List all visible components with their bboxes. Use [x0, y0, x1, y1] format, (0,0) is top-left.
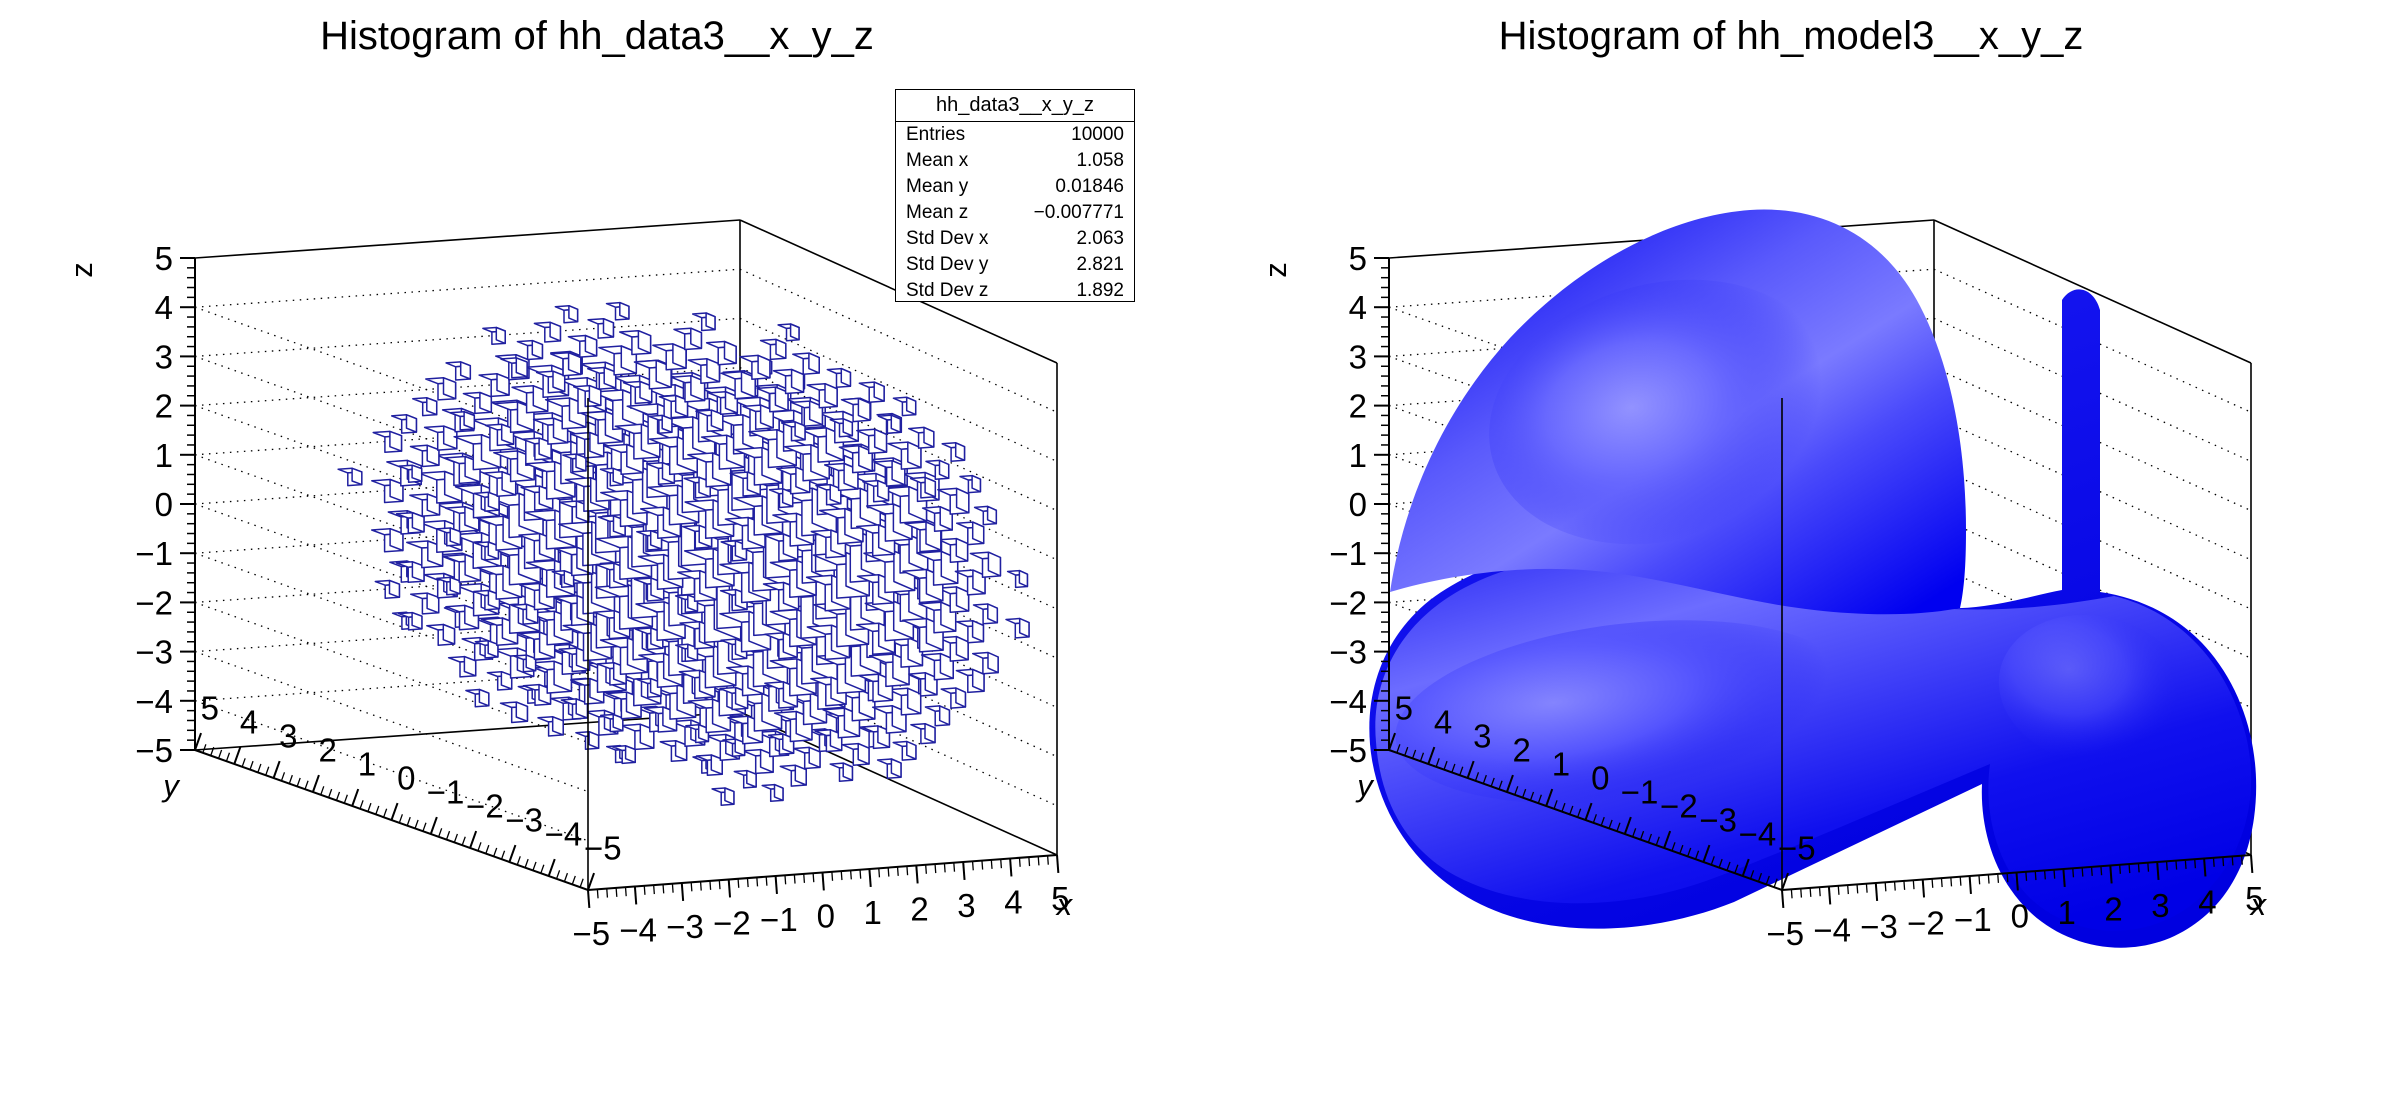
histogram-box	[479, 690, 488, 706]
axis-x-minor-tick	[701, 882, 702, 891]
histogram-box	[925, 477, 935, 496]
axis-x-tick-label: −3	[1860, 908, 1898, 945]
axis-y-minor-tick	[557, 870, 560, 878]
axis-y-minor-tick	[376, 806, 379, 814]
axis-z-tick-label: 4	[155, 289, 173, 326]
axis-y-minor-tick	[541, 865, 544, 873]
axis-x-minor-tick	[973, 861, 974, 870]
axis-x-label: x	[2249, 887, 2268, 922]
axis-x-minor-tick	[1979, 875, 1980, 884]
stats-box-data[interactable]: hh_data3__x_y_z Entries10000Mean x1.058M…	[895, 89, 1135, 302]
axis-x-minor-tick	[888, 868, 889, 877]
histogram-box	[874, 382, 884, 401]
axis-y-minor-tick	[399, 814, 402, 822]
axis-y-minor-tick	[368, 803, 371, 811]
histogram-box	[620, 303, 629, 319]
axis-z-tick-label: 5	[155, 240, 173, 277]
axis-x-tick-label: −4	[619, 911, 657, 948]
stats-row-value: −0.007771	[1034, 202, 1124, 224]
axis-y-minor-tick	[478, 842, 481, 850]
axis-x-minor-tick	[1838, 886, 1839, 895]
box-histogram	[338, 303, 1029, 806]
axis-x-minor-tick	[1810, 888, 1811, 897]
axis-x-tick-label: 1	[863, 894, 881, 931]
stats-row: Mean z−0.007771	[906, 200, 1124, 226]
axis-x-minor-tick	[1941, 878, 1942, 887]
axis-x-minor-tick	[2110, 866, 2111, 875]
axis-z-tick-label: 4	[1349, 289, 1367, 326]
axis-y-tick-label: 3	[279, 718, 297, 755]
axis-x-tick-label: 2	[2104, 890, 2122, 927]
axis-z-tick-label: 2	[1349, 388, 1367, 425]
axis-z-tick-label: 0	[1349, 486, 1367, 523]
axis-z-tick-label: −3	[135, 634, 173, 671]
histogram-box	[427, 398, 437, 415]
axis-x-minor-tick	[916, 866, 917, 875]
histogram-box	[1019, 571, 1027, 587]
axis-y-tick-label: −5	[1778, 830, 1816, 867]
axis-z-tick-label: 3	[155, 338, 173, 375]
axis-x-tick-label: −4	[1813, 911, 1851, 948]
axis-x-minor-tick	[2129, 864, 2130, 873]
axis-y-tick-label: −2	[466, 788, 504, 825]
axis-z-tick-label: −4	[1329, 683, 1367, 720]
axis-x-minor-tick	[813, 873, 814, 882]
grid-line	[195, 269, 740, 307]
histogram-box	[907, 397, 916, 414]
axis-x-minor-tick	[2204, 859, 2205, 868]
axis-y-minor-tick	[329, 789, 332, 797]
axis-x-minor-tick	[663, 884, 664, 893]
histogram-box	[924, 427, 934, 447]
axis-x-minor-tick	[597, 889, 598, 898]
axis-x-minor-tick	[1876, 883, 1877, 892]
histogram-box	[553, 717, 564, 735]
axis-x-minor-tick	[944, 863, 945, 872]
axis-x-tick-label: 1	[2057, 894, 2075, 931]
histogram-box	[390, 581, 400, 598]
histogram-box	[352, 468, 362, 484]
axis-x-minor-tick	[963, 862, 964, 871]
stats-row-key: Std Dev y	[906, 254, 988, 276]
plot3d-model: −5−4−3−2−1012345z543210−1−2−3−4−5y−5−4−3…	[1194, 0, 2388, 1116]
axis-x-minor-tick	[935, 864, 936, 873]
axis-y-tick-label: 0	[397, 760, 415, 797]
histogram-box	[841, 369, 850, 387]
axis-x-minor-tick	[2157, 862, 2158, 871]
axis-y-tick-label: −4	[545, 816, 583, 853]
axis-x-tick-label: −1	[1954, 901, 1992, 938]
axis-x-minor-tick	[841, 871, 842, 880]
axis-x-minor-tick	[2120, 865, 2121, 874]
axis-y-minor-tick	[580, 879, 583, 887]
axis-y-minor-tick	[384, 809, 387, 817]
axis-x-minor-tick	[2185, 860, 2186, 869]
histogram-box	[988, 653, 998, 673]
histogram-box	[443, 625, 454, 645]
axis-x-minor-tick	[2167, 861, 2168, 870]
axis-x-minor-tick	[2138, 863, 2139, 872]
axis-y-minor-tick	[289, 775, 292, 783]
stats-row: Std Dev y2.821	[906, 252, 1124, 278]
axis-z-label: z	[1258, 262, 1293, 278]
axis-x-minor-tick	[2026, 872, 2027, 881]
histogram-box	[725, 788, 734, 804]
histogram-box	[1020, 619, 1029, 637]
stats-row-key: Mean y	[906, 176, 968, 198]
axis-y-tick-label: 4	[240, 704, 258, 741]
axis-x-minor-tick	[1019, 858, 1020, 867]
axis-z-tick-label: 0	[155, 486, 173, 523]
root-canvas: Histogram of hh_data3__x_y_z −5−4−3−2−10…	[0, 0, 2388, 1116]
axis-z-tick-label: −3	[1329, 634, 1367, 671]
axis-x-tick-label: 4	[2198, 883, 2216, 920]
axis-x-minor-tick	[2101, 866, 2102, 875]
stats-row-key: Std Dev x	[906, 228, 988, 250]
axis-x-minor-tick	[1857, 884, 1858, 893]
axis-x-minor-tick	[1970, 876, 1971, 885]
stats-row: Mean x1.058	[906, 148, 1124, 174]
stats-row: Std Dev x2.063	[906, 226, 1124, 252]
axis-x-minor-tick	[2092, 867, 2093, 876]
axis-x-minor-tick	[1829, 887, 1830, 896]
axis-x-tick-label: 4	[1004, 883, 1022, 920]
histogram-box	[604, 319, 614, 337]
axis-x-minor-tick	[1885, 882, 1886, 891]
histogram-box	[775, 785, 784, 801]
axis-y-minor-tick	[439, 828, 442, 836]
axis-y-minor-tick	[360, 800, 363, 808]
axis-y-tick-label: 5	[1395, 690, 1413, 727]
axis-x-minor-tick	[1010, 859, 1011, 868]
pad-model: Histogram of hh_model3__x_y_z −5−4−3−2−1…	[1194, 0, 2388, 1116]
axis-x-minor-tick	[1932, 879, 1933, 888]
histogram-box	[956, 443, 965, 461]
axis-x-tick-label: 3	[957, 887, 975, 924]
axis-x-minor-tick	[2073, 868, 2074, 877]
axis-x-minor-tick	[2195, 859, 2196, 868]
axis-x-minor-tick	[804, 874, 805, 883]
axis-x-minor-tick	[2082, 868, 2083, 877]
axis-x-minor-tick	[2063, 869, 2064, 878]
axis-y-minor-tick	[494, 848, 497, 856]
histogram-box	[809, 353, 819, 373]
stats-row-value: 1.892	[1076, 280, 1124, 302]
axis-x-minor-tick	[1998, 874, 1999, 883]
axis-x-minor-tick	[954, 863, 955, 872]
axis-y-minor-tick	[447, 831, 450, 839]
axis-x-tick	[1057, 855, 1058, 873]
stats-row-key: Mean x	[906, 150, 968, 172]
axis-x-minor-tick	[2242, 856, 2243, 865]
axis-z: −5−4−3−2−1012345z	[64, 240, 195, 769]
axis-y-minor-tick	[242, 758, 245, 766]
axis-x-minor-tick	[1904, 881, 1905, 890]
axis-x-minor-tick	[1951, 877, 1952, 886]
axis-x-minor-tick	[757, 877, 758, 886]
axis-y-minor-tick	[525, 859, 528, 867]
axis-x-minor-tick	[1848, 885, 1849, 894]
axis-x-minor-tick	[588, 890, 589, 899]
grid-line	[195, 318, 740, 356]
histogram-box	[858, 744, 869, 764]
axis-y-minor-tick	[486, 845, 489, 853]
histogram-box	[464, 412, 474, 429]
axis-x-minor-tick	[898, 867, 899, 876]
stats-row: Std Dev z1.892	[906, 278, 1124, 304]
axis-x-minor-tick	[691, 882, 692, 891]
axis-y-tick-label: 1	[358, 746, 376, 783]
axis-x-tick-label: −3	[666, 908, 704, 945]
axis-y-minor-tick	[281, 772, 284, 780]
axis-y-minor-tick	[258, 764, 261, 772]
stats-row: Mean y0.01846	[906, 174, 1124, 200]
histogram-box	[956, 688, 966, 707]
axis-x-minor-tick	[1923, 880, 1924, 889]
histogram-box	[662, 415, 672, 432]
axis-x-minor-tick	[1038, 856, 1039, 865]
frame-edge	[195, 220, 740, 258]
axis-z-tick-label: −2	[1329, 584, 1367, 621]
axis-x-minor-tick	[2007, 873, 2008, 882]
axis-x-minor-tick	[2176, 861, 2177, 870]
axis-z-tick-label: −5	[135, 732, 173, 769]
stats-row-value: 1.058	[1076, 150, 1124, 172]
stats-row-value: 0.01846	[1055, 176, 1124, 198]
histogram-box	[972, 476, 980, 492]
axis-y-tick-label: 4	[1434, 704, 1452, 741]
histogram-box	[480, 393, 491, 413]
axis-x: −5−4−3−2−1012345x	[572, 855, 1073, 952]
stats-rows-data: Entries10000Mean x1.058Mean y0.01846Mean…	[896, 122, 1134, 304]
axis-x-minor-tick	[1801, 889, 1802, 898]
histogram-box	[891, 759, 901, 777]
axis-z-tick-label: 5	[1349, 240, 1367, 277]
axis-x-minor-tick	[747, 878, 748, 887]
axis-x-minor-tick	[832, 872, 833, 881]
axis-z-tick-label: −1	[135, 535, 173, 572]
axis-x-minor-tick	[1782, 890, 1783, 899]
axis-y-minor-tick	[321, 786, 324, 794]
axis-y-minor-tick	[454, 834, 457, 842]
axis-x-minor-tick	[1029, 857, 1030, 866]
axis-x-minor-tick	[2213, 858, 2214, 867]
axis-x-minor-tick	[710, 881, 711, 890]
axis-x-minor-tick	[794, 875, 795, 884]
axis-x-minor-tick	[1001, 859, 1002, 868]
axis-z-tick-label: 3	[1349, 338, 1367, 375]
histogram-box	[747, 771, 756, 787]
axis-x-minor-tick	[869, 869, 870, 878]
axis-y-minor-tick	[502, 851, 505, 859]
axis-x-tick-label: 2	[910, 890, 928, 927]
axis-y-tick-label: 2	[318, 732, 336, 769]
axis-x-minor-tick	[682, 883, 683, 892]
stats-row-key: Mean z	[906, 202, 968, 224]
axis-x-tick-label: 0	[2011, 897, 2029, 934]
axis-y-tick-label: −5	[584, 830, 622, 867]
histogram-box	[390, 431, 402, 451]
axis-x-minor-tick	[616, 888, 617, 897]
axis-x-tick	[2251, 855, 2252, 873]
axis-x-minor-tick	[766, 877, 767, 886]
axis-z-tick-label: −1	[1329, 535, 1367, 572]
axis-y-minor-tick	[336, 792, 339, 800]
axis-x-minor-tick	[982, 861, 983, 870]
axis-z-tick-label: −4	[135, 683, 173, 720]
histogram-box	[891, 415, 900, 432]
histogram-box	[516, 358, 527, 377]
axis-y-minor-tick	[344, 795, 347, 803]
axis-x-minor-tick	[719, 880, 720, 889]
axis-y-tick-label: −4	[1739, 816, 1777, 853]
axis-z-tick-label: −2	[135, 584, 173, 621]
histogram-box	[497, 374, 509, 395]
axis-y-minor-tick	[250, 761, 253, 769]
axis-z: −5−4−3−2−1012345z	[1258, 240, 1389, 769]
stats-row-key: Entries	[906, 124, 965, 146]
axis-y-tick-label: −1	[1621, 774, 1659, 811]
axis-y-tick-label: −1	[427, 774, 465, 811]
axis-x-minor-tick	[851, 870, 852, 879]
axis-y-minor-tick	[423, 823, 426, 831]
axis-x-minor-tick	[738, 879, 739, 888]
axis-x-minor-tick	[1866, 884, 1867, 893]
histogram-box	[589, 732, 599, 749]
axis-x-tick-label: −2	[1907, 904, 1945, 941]
axis-z-tick-label: 1	[155, 437, 173, 474]
histogram-box	[940, 706, 950, 725]
axis-x-minor-tick	[926, 865, 927, 874]
axis-y-tick-label: 5	[201, 690, 219, 727]
axis-y-minor-tick	[572, 876, 575, 884]
axis-x-tick-label: −5	[1766, 915, 1804, 952]
histogram-box	[795, 422, 805, 440]
axis-x-minor-tick	[626, 887, 627, 896]
histogram-box	[626, 746, 636, 763]
axis-x-minor-tick	[644, 886, 645, 895]
axis-y-tick-label: 3	[1473, 718, 1491, 755]
histogram-box	[412, 613, 422, 629]
axis-y-minor-tick	[297, 778, 300, 786]
axis-y-minor-tick	[564, 873, 567, 881]
axis-x-tick-label: −2	[713, 904, 751, 941]
axis-x-minor-tick	[1988, 875, 1989, 884]
histogram-box	[843, 419, 852, 436]
axis-x-tick-label: 0	[817, 897, 835, 934]
histogram-box	[550, 322, 560, 341]
stats-row-value: 10000	[1071, 124, 1124, 146]
axis-x-minor-tick	[635, 887, 636, 896]
histogram-box	[791, 324, 799, 340]
histogram-box	[412, 465, 422, 481]
axis-y-tick-label: 0	[1591, 760, 1609, 797]
axis-y-minor-tick	[305, 781, 308, 789]
axis-x-minor-tick	[2017, 873, 2018, 882]
axis-x-minor-tick	[823, 873, 824, 882]
histogram-box	[496, 328, 505, 344]
stats-row-value: 2.063	[1076, 228, 1124, 250]
histogram-box	[461, 362, 471, 379]
axis-y-minor-tick	[415, 820, 418, 828]
axis-x-minor-tick	[2148, 863, 2149, 872]
axis-x-minor-tick	[991, 860, 992, 869]
axis-y-minor-tick	[517, 856, 520, 864]
histogram-box	[706, 313, 715, 330]
axis-x-minor-tick	[1048, 856, 1049, 865]
axis-x-minor-tick	[1913, 880, 1914, 889]
histogram-box	[988, 506, 997, 523]
stats-row-key: Std Dev z	[906, 280, 988, 302]
axis-x-minor-tick	[2232, 856, 2233, 865]
axis-x-minor-tick	[729, 880, 730, 889]
axis-y-minor-tick	[407, 817, 410, 825]
axis-y-tick-label: 2	[1512, 732, 1530, 769]
axis-x-minor-tick	[1791, 889, 1792, 898]
stats-row: Entries10000	[906, 122, 1124, 148]
histogram-box	[532, 341, 542, 359]
axis-x-minor-tick	[776, 876, 777, 885]
histogram-box	[907, 742, 916, 760]
axis-x-minor-tick	[2035, 871, 2036, 880]
axis-x-label: x	[1055, 887, 1074, 922]
histogram-box	[516, 702, 527, 721]
axis-y-tick-label: −2	[1660, 788, 1698, 825]
axis-y-minor-tick	[533, 862, 536, 870]
axis-x-tick-label: −1	[760, 901, 798, 938]
axis-x-minor-tick	[607, 889, 608, 898]
axis-y-minor-tick	[462, 837, 465, 845]
axis-x-minor-tick	[907, 866, 908, 875]
axis-x-tick-label: −5	[572, 915, 610, 952]
histogram-box	[988, 604, 998, 623]
histogram-box	[407, 415, 417, 432]
axis-x-minor-tick	[672, 884, 673, 893]
axis-y-minor-tick	[266, 767, 269, 775]
axis-x-minor-tick	[2223, 857, 2224, 866]
axis-z-tick-label: 2	[155, 388, 173, 425]
axis-x-minor-tick	[2045, 870, 2046, 879]
stats-title-data: hh_data3__x_y_z	[896, 90, 1134, 122]
axis-x-minor-tick	[879, 868, 880, 877]
axis-y-tick-label: −3	[505, 802, 543, 839]
axis-x-minor-tick	[1820, 887, 1821, 896]
axis-y-label: y	[1355, 768, 1375, 803]
axis-x-minor-tick	[860, 870, 861, 879]
axis-x-tick-label: 3	[2151, 887, 2169, 924]
axis-x-minor-tick	[785, 875, 786, 884]
axis-z-tick-label: −5	[1329, 732, 1367, 769]
axis-y-label: y	[161, 768, 181, 803]
axis-z-tick-label: 1	[1349, 437, 1367, 474]
axis-y-tick-label: 1	[1552, 746, 1570, 783]
histogram-box	[843, 763, 852, 780]
stats-row-value: 2.821	[1076, 254, 1124, 276]
axis-x-minor-tick	[1895, 882, 1896, 891]
axis-y-minor-tick	[226, 753, 229, 761]
pad-data: Histogram of hh_data3__x_y_z −5−4−3−2−10…	[0, 0, 1194, 1116]
axis-y-minor-tick	[219, 750, 222, 758]
axis-z-label: z	[64, 262, 99, 278]
axis-x-minor-tick	[654, 885, 655, 894]
histogram-box	[940, 460, 949, 478]
axis-x-minor-tick	[1960, 877, 1961, 886]
histogram-box	[569, 306, 578, 322]
axis-y-tick-label: −3	[1699, 802, 1737, 839]
axis-x-minor-tick	[2054, 870, 2055, 879]
